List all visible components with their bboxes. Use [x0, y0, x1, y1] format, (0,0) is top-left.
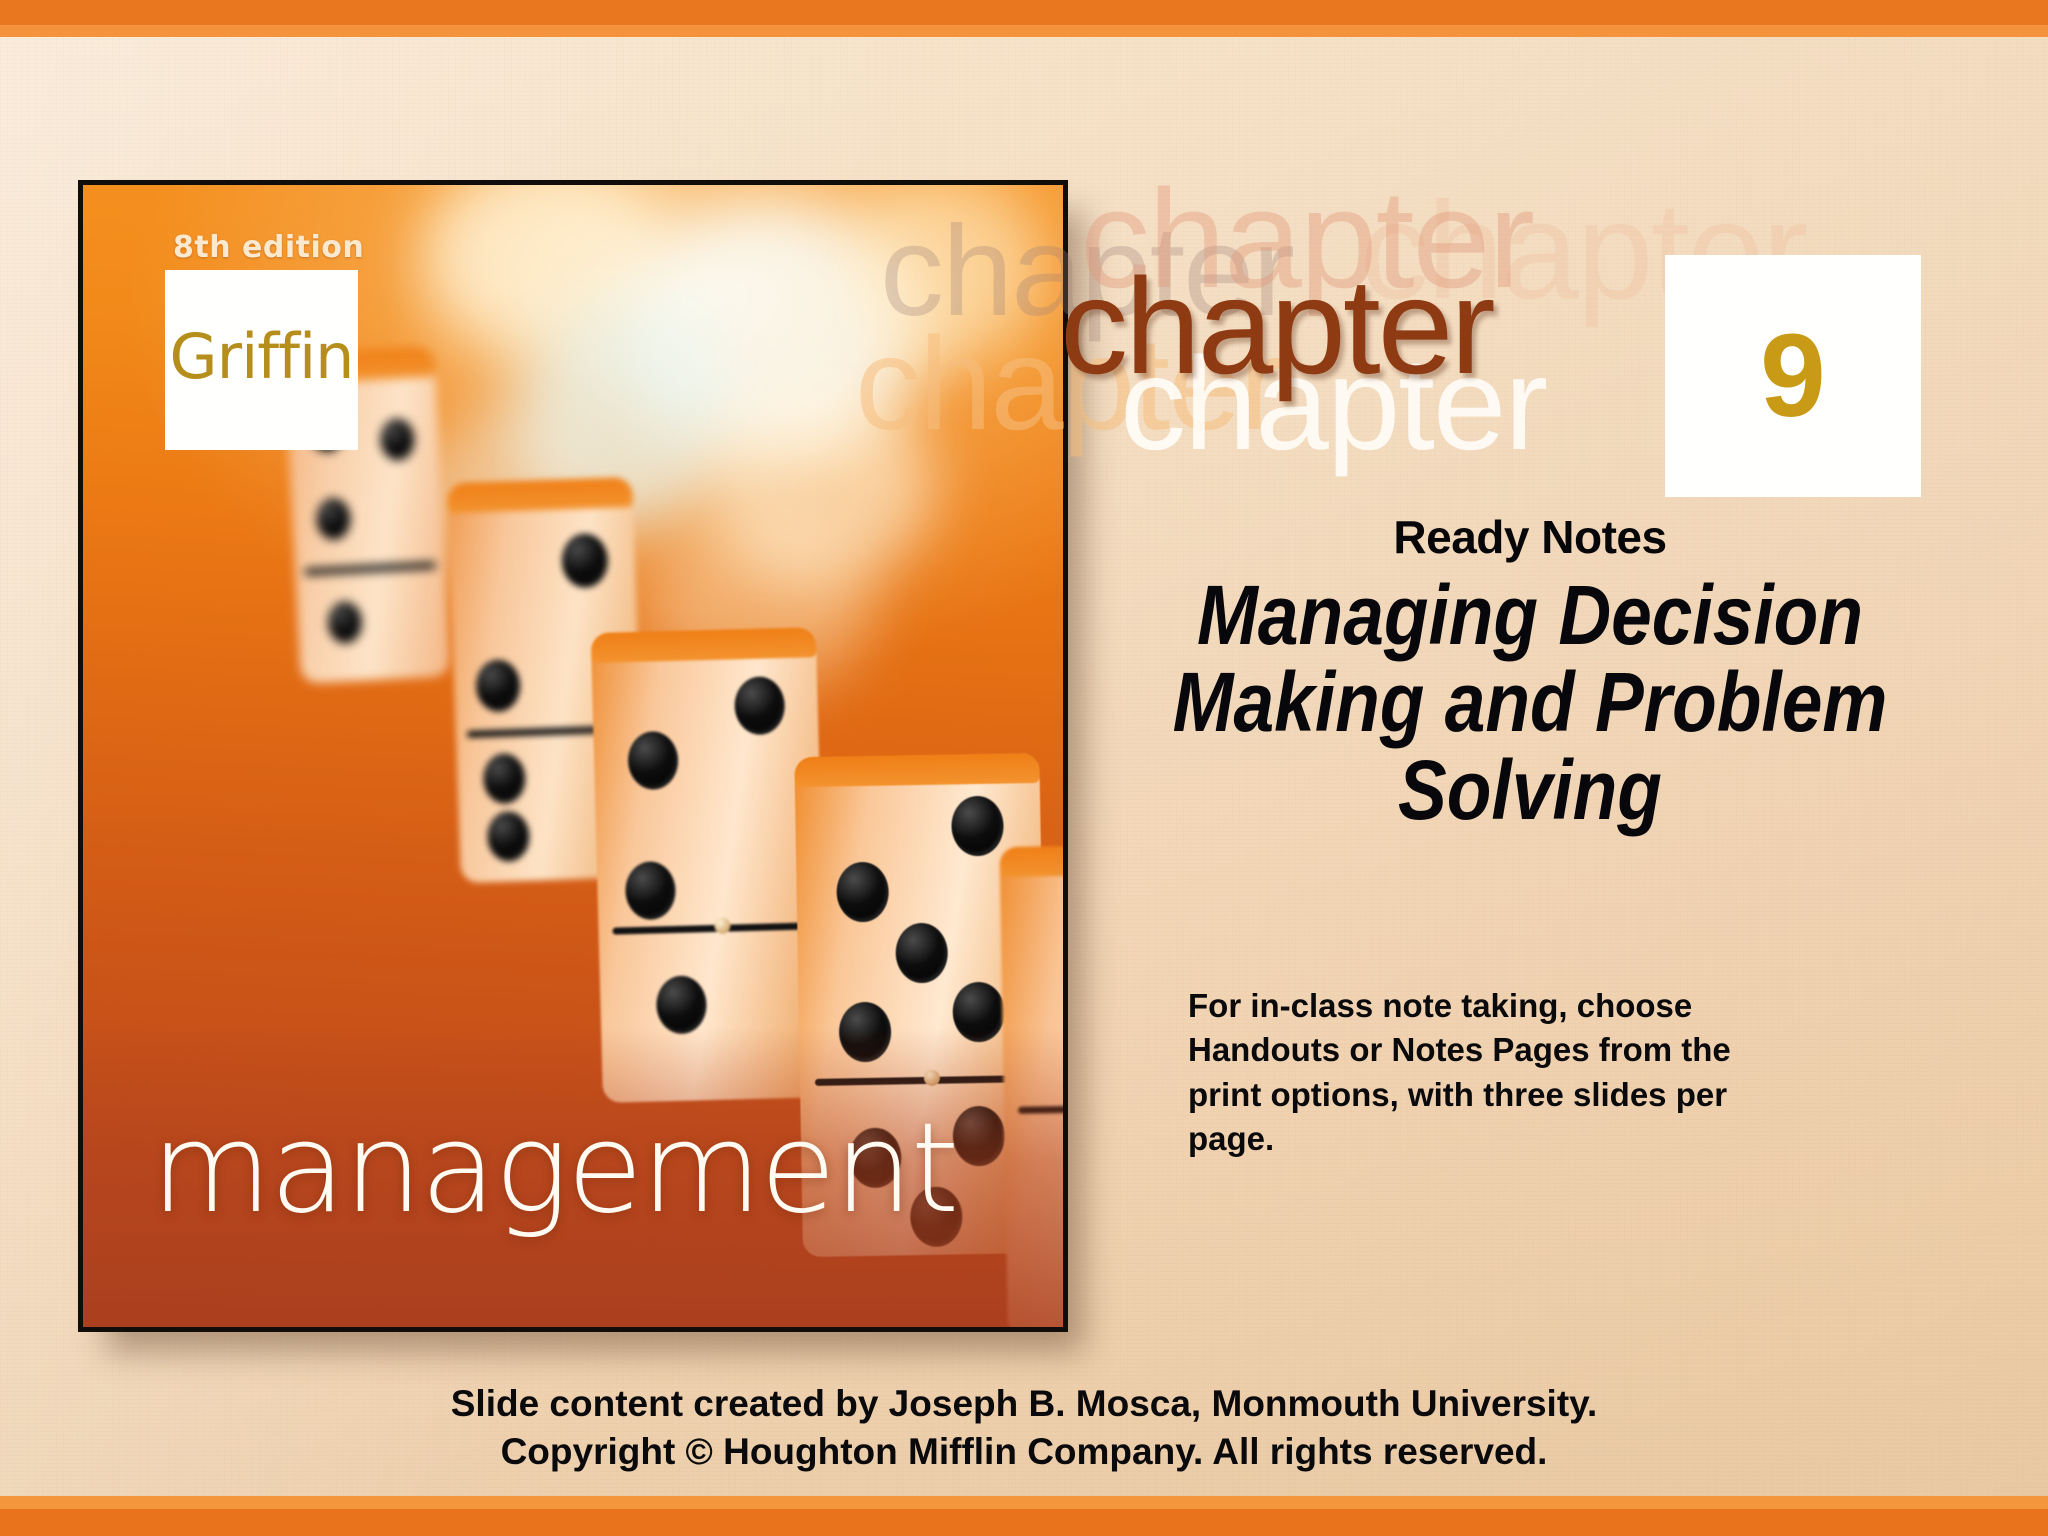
chapter-number-box: 9 [1665, 255, 1921, 497]
chapter-number: 9 [1760, 317, 1826, 435]
domino-pip [734, 676, 786, 735]
top-accent-bar [0, 0, 2048, 25]
domino-pip [475, 659, 521, 713]
domino-pip [315, 497, 351, 541]
book-title: management [151, 1107, 957, 1231]
slide-subtitle: Ready Notes [1100, 510, 1960, 564]
slide-title: Managing Decision Making and Problem Sol… [1156, 572, 1904, 834]
slide-title-line: Solving [1156, 747, 1904, 834]
slide-title-line: Making and Problem [1156, 659, 1904, 746]
bokeh-highlight-icon [423, 180, 673, 355]
domino-divider [304, 562, 436, 576]
domino-pip [895, 923, 948, 984]
domino-pip [561, 533, 609, 589]
presentation-slide: 8th edition Griffin management chapter c… [0, 0, 2048, 1536]
domino-pip [327, 601, 363, 645]
note-taking-instructions: For in-class note taking, choose Handout… [1188, 984, 1808, 1161]
slide-title-line: Managing Decision [1156, 572, 1904, 659]
domino-pip [487, 811, 531, 862]
domino-pip [836, 862, 889, 923]
domino-pip [625, 861, 677, 920]
chapter-header: chapter chapter chapter chapter chapter … [1100, 150, 1960, 500]
domino-divider [612, 922, 810, 934]
chapter-label: chapter [1060, 248, 1493, 404]
footer-copyright-line: Copyright © Houghton Mifflin Company. Al… [0, 1428, 2048, 1476]
domino-pip [951, 796, 1004, 857]
domino-pip [379, 418, 415, 462]
book-edition-label: 8th edition [173, 230, 364, 265]
book-author-box: Griffin [165, 270, 358, 450]
slide-footer: Slide content created by Joseph B. Mosca… [0, 1380, 2048, 1476]
bottom-accent-bar-light [0, 1496, 2048, 1509]
domino-pip [627, 731, 679, 790]
bottom-accent-bar [0, 1509, 2048, 1536]
book-author-name: Griffin [165, 320, 358, 393]
domino-pip [483, 753, 527, 804]
top-accent-bar-light [0, 25, 2048, 37]
domino-pip [656, 975, 708, 1034]
slide-right-column: chapter chapter chapter chapter chapter … [1100, 150, 1960, 1161]
footer-credit-line: Slide content created by Joseph B. Mosca… [0, 1380, 2048, 1428]
